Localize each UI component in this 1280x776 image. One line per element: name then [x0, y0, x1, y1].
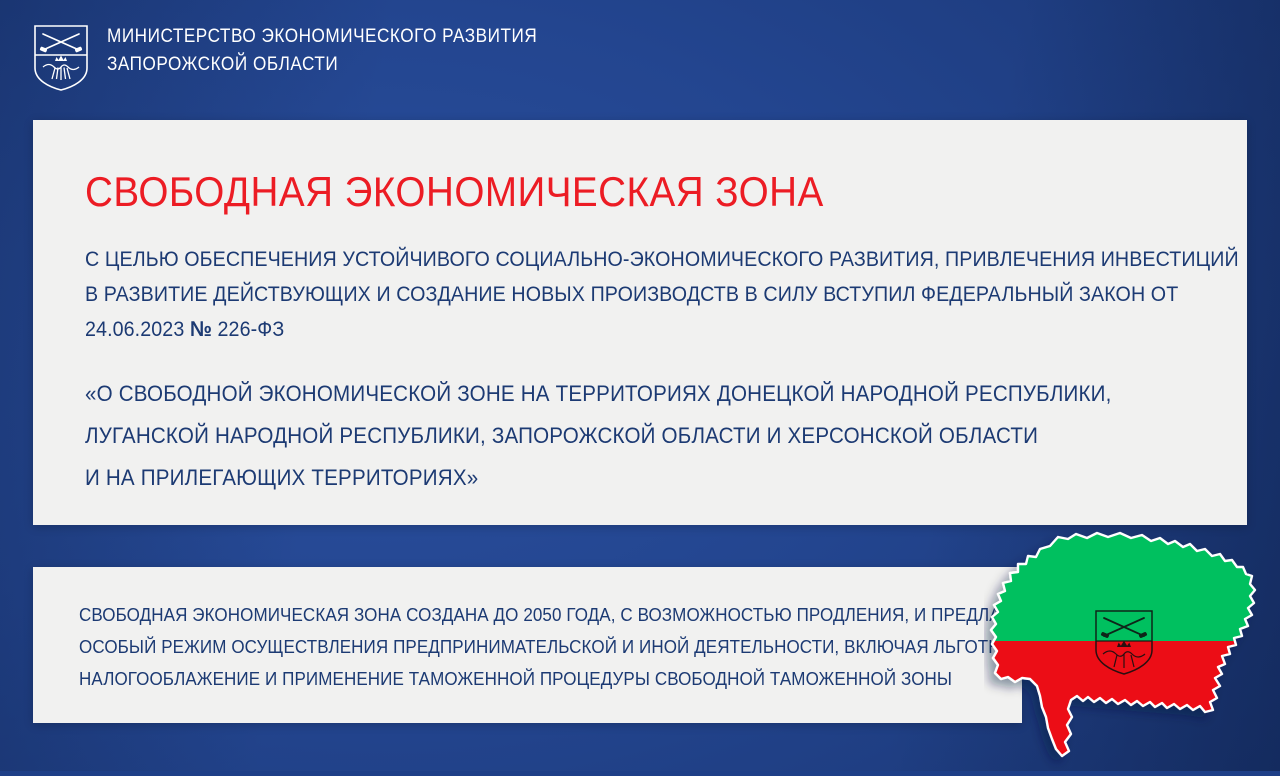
page-title: СВОБОДНАЯ ЭКОНОМИЧЕСКАЯ ЗОНА [85, 168, 1106, 216]
law-date: 24.06.2023 [85, 317, 190, 341]
note-line-3: НАЛОГООБЛАЖЕНИЕ И ПРИМЕНЕНИЕ ТАМОЖЕННОЙ … [79, 663, 904, 695]
note-line-2: ОСОБЫЙ РЕЖИМ ОСУЩЕСТВЛЕНИЯ ПРЕДПРИНИМАТЕ… [79, 631, 904, 663]
intro-paragraph: С ЦЕЛЬЮ ОБЕСПЕЧЕНИЯ УСТОЙЧИВОГО СОЦИАЛЬН… [85, 242, 1101, 347]
note-paragraph: СВОБОДНАЯ ЭКОНОМИЧЕСКАЯ ЗОНА СОЗДАНА ДО … [79, 599, 904, 695]
intro-line-3: 24.06.2023 № 226-ФЗ [85, 312, 1101, 347]
ministry-title-line-1: МИНИСТЕРСТВО ЭКОНОМИЧЕСКОГО РАЗВИТИЯ [107, 22, 537, 50]
law-number: 226-ФЗ [212, 317, 284, 341]
law-title-line-3: И НА ПРИЛЕГАЮЩИХ ТЕРРИТОРИЯХ» [85, 457, 1101, 499]
law-title-line-1: «О СВОБОДНОЙ ЭКОНОМИЧЕСКОЙ ЗОНЕ НА ТЕРРИ… [85, 373, 1101, 415]
ministry-title-line-2: ЗАПОРОЖСКОЙ ОБЛАСТИ [107, 50, 537, 78]
law-title-paragraph: «О СВОБОДНОЙ ЭКОНОМИЧЕСКОЙ ЗОНЕ НА ТЕРРИ… [85, 373, 1101, 499]
numero-sign: № [190, 317, 212, 341]
intro-line-1: С ЦЕЛЬЮ ОБЕСПЕЧЕНИЯ УСТОЙЧИВОГО СОЦИАЛЬН… [85, 242, 1101, 277]
sez-note-card: СВОБОДНАЯ ЭКОНОМИЧЕСКАЯ ЗОНА СОЗДАНА ДО … [33, 567, 1022, 723]
ministry-header: МИНИСТЕРСТВО ЭКОНОМИЧЕСКОГО РАЗВИТИЯ ЗАП… [33, 22, 596, 92]
ministry-title-block: МИНИСТЕРСТВО ЭКОНОМИЧЕСКОГО РАЗВИТИЯ ЗАП… [107, 22, 596, 78]
note-line-1: СВОБОДНАЯ ЭКОНОМИЧЕСКАЯ ЗОНА СОЗДАНА ДО … [79, 599, 904, 631]
coat-of-arms-icon [33, 24, 89, 92]
law-title-line-2: ЛУГАНСКОЙ НАРОДНОЙ РЕСПУБЛИКИ, ЗАПОРОЖСК… [85, 415, 1101, 457]
intro-line-2: В РАЗВИТИЕ ДЕЙСТВУЮЩИХ И СОЗДАНИЕ НОВЫХ … [85, 277, 1101, 312]
sez-main-card: СВОБОДНАЯ ЭКОНОМИЧЕСКАЯ ЗОНА С ЦЕЛЬЮ ОБЕ… [33, 120, 1247, 525]
zaporozhye-oblast-map [984, 520, 1280, 771]
